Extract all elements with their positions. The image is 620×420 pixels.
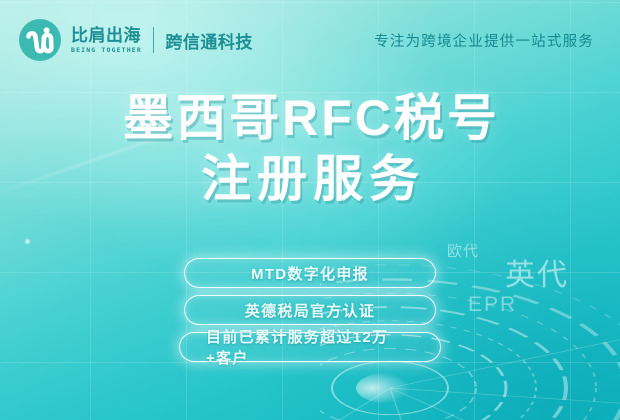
brand-name-en: BEING TOGETHER [71, 47, 142, 54]
feature-pill-customers[interactable]: 目前已累计服务超过12万+客户 [179, 332, 441, 362]
hero-title-line-2: 注册服务 [0, 153, 620, 206]
hero-title-block: 墨西哥RFC税号 注册服务 [0, 92, 620, 206]
hero-title-line-1: 墨西哥RFC税号 [0, 92, 620, 145]
brand-divider [153, 27, 155, 53]
feature-pill-mtd[interactable]: MTD数字化申报 [184, 258, 436, 288]
company-logo-icon [18, 18, 62, 62]
banner-header: 比肩出海 BEING TOGETHER 跨信通科技 专注为跨境企业提供一站式服务 [0, 0, 620, 80]
feature-pill-certification[interactable]: 英德税局官方认证 [184, 295, 436, 325]
brand-lockup[interactable]: 比肩出海 BEING TOGETHER 跨信通科技 [18, 18, 253, 62]
promo-banner: 欧代 英代 EPR 比肩出海 BEING TOGETHER 跨信通科技 专注为跨… [0, 0, 620, 420]
light-speck-decor [24, 238, 31, 245]
brand-name-cn: 比肩出海 [71, 27, 142, 44]
brand-text-group: 比肩出海 BEING TOGETHER 跨信通科技 [71, 27, 253, 54]
header-tagline: 专注为跨境企业提供一站式服务 [374, 30, 600, 51]
brand-subsidiary-name: 跨信通科技 [165, 28, 253, 53]
feature-pill-list: MTD数字化申报 英德税局官方认证 目前已累计服务超过12万+客户 [0, 258, 620, 362]
brand-primary-block: 比肩出海 BEING TOGETHER [71, 27, 142, 54]
